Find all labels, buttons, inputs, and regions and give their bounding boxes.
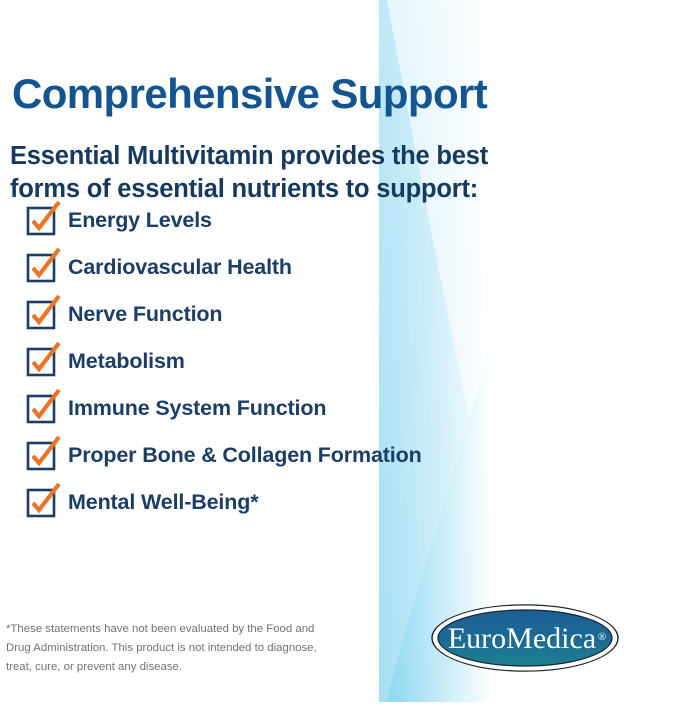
logo-wordmark: EuroMedica <box>448 622 596 655</box>
benefit-label: Proper Bone & Collagen Formation <box>68 440 422 470</box>
checkbox-checked-icon <box>28 490 54 516</box>
list-item: Energy Levels <box>0 205 560 252</box>
disclaimer-text: *These statements have not been evaluate… <box>6 620 336 676</box>
list-item: Cardiovascular Health <box>0 252 560 299</box>
benefit-label: Energy Levels <box>68 205 212 235</box>
benefit-label: Nerve Function <box>68 299 222 329</box>
subtitle-text: Essential Multivitamin provides the best… <box>10 140 540 208</box>
benefit-label: Metabolism <box>68 346 185 376</box>
registered-trademark-icon: ® <box>598 631 606 643</box>
list-item: Immune System Function <box>0 393 560 440</box>
benefit-label: Mental Well-Being* <box>68 487 258 517</box>
list-item: Mental Well-Being* <box>0 487 560 534</box>
checkbox-checked-icon <box>28 208 54 234</box>
checkbox-checked-icon <box>28 302 54 328</box>
checkbox-checked-icon <box>28 349 54 375</box>
list-item: Metabolism <box>0 346 560 393</box>
page-title: Comprehensive Support <box>12 72 487 116</box>
checkbox-checked-icon <box>28 255 54 281</box>
list-item: Nerve Function <box>0 299 560 346</box>
benefit-list: Energy Levels Cardiovascular Health <box>0 205 560 534</box>
benefit-label: Cardiovascular Health <box>68 252 292 282</box>
list-item: Proper Bone & Collagen Formation <box>0 440 560 487</box>
checkbox-checked-icon <box>28 396 54 422</box>
benefit-label: Immune System Function <box>68 393 326 423</box>
euromedica-logo: EuroMedica ® <box>430 597 620 679</box>
checkbox-checked-icon <box>28 443 54 469</box>
marketing-panel: Comprehensive Support Essential Multivit… <box>0 0 679 724</box>
